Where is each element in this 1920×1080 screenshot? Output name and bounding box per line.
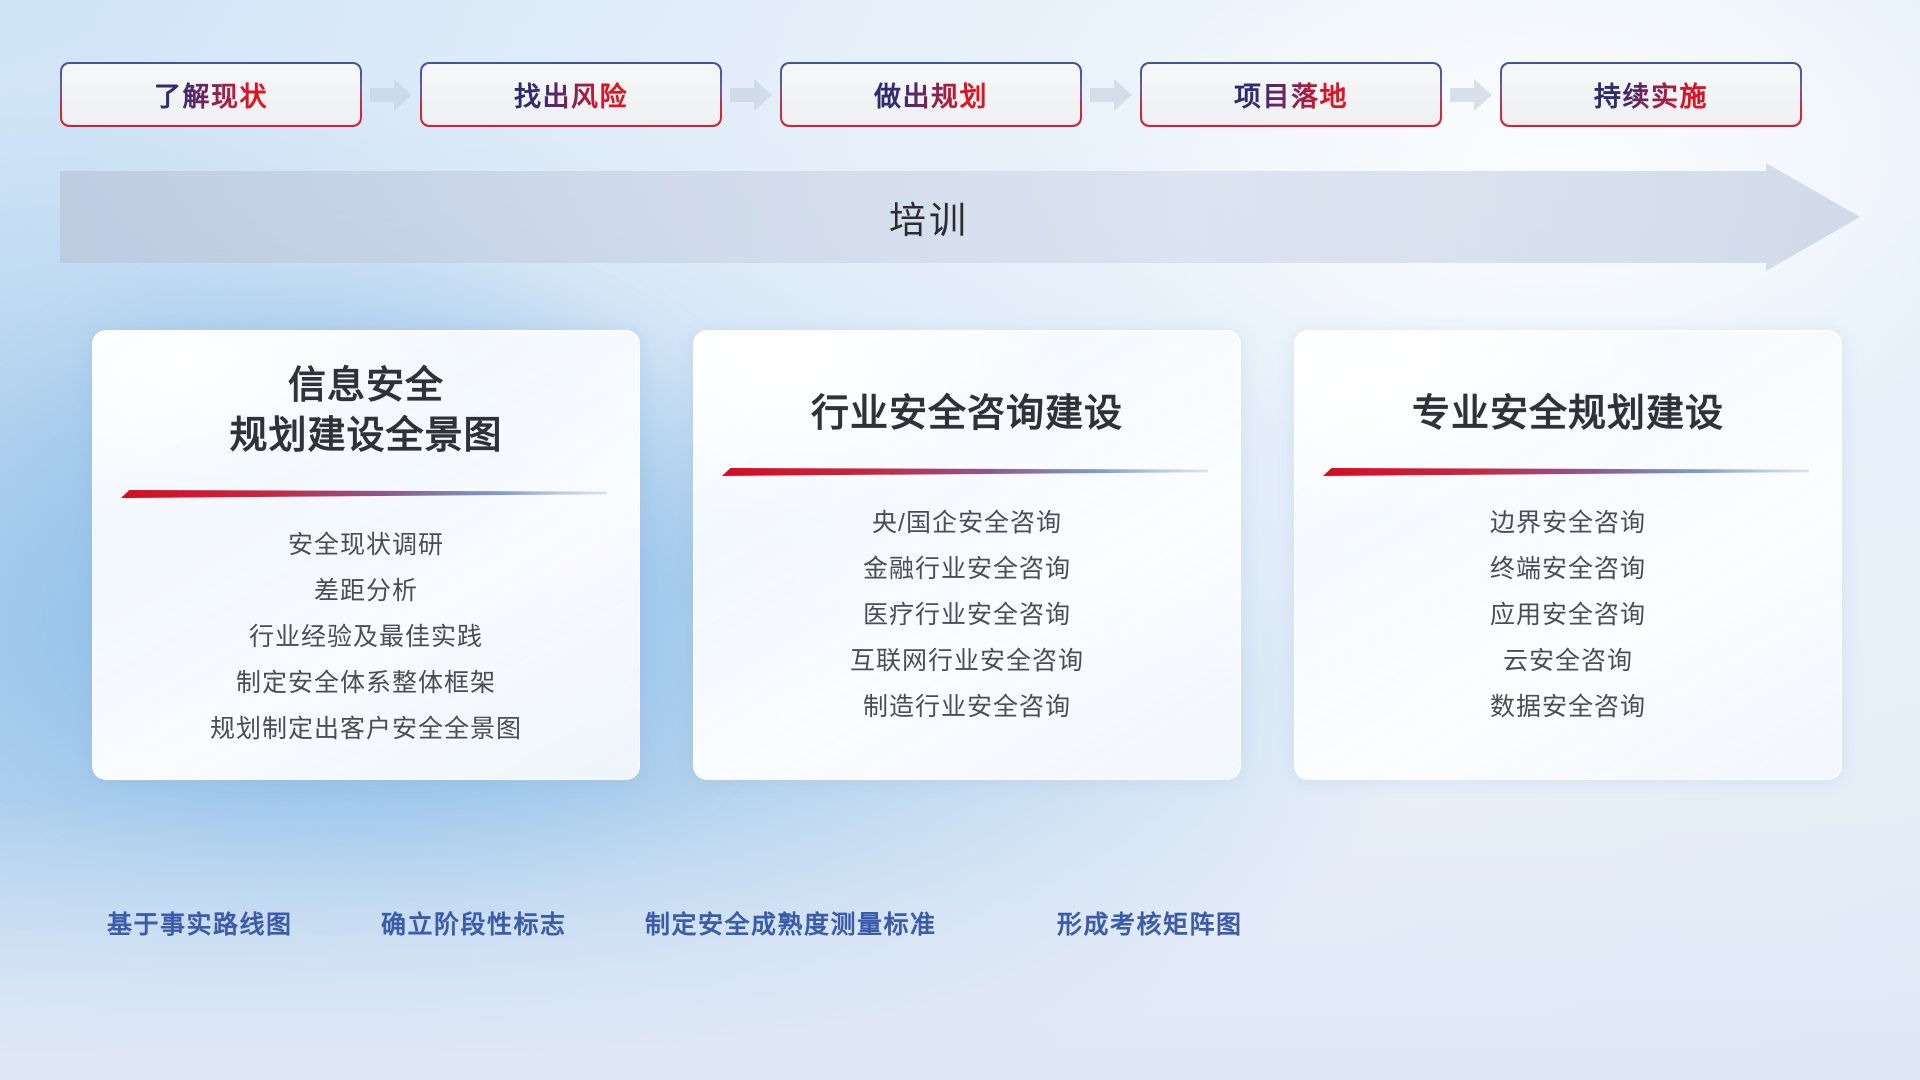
training-banner: 培训 bbox=[60, 163, 1860, 271]
footnote-row: 基于事实路线图 确立阶段性标志 制定安全成熟度测量标准 形成考核矩阵图 bbox=[0, 905, 1920, 965]
step-label: 持续实施 bbox=[1594, 75, 1708, 114]
footnote-label-1: 基于事实路线图 bbox=[107, 905, 293, 941]
card-title: 行业安全咨询建设 bbox=[694, 389, 1240, 439]
list-item: 云安全咨询 bbox=[1295, 638, 1841, 684]
arrow-right-icon bbox=[1448, 75, 1494, 115]
card-item-list: 安全现状调研 差距分析 行业经验及最佳实践 制定安全体系整体框架 规划制定出客户… bbox=[93, 522, 639, 752]
card-title: 信息安全 规划建设全景图 bbox=[93, 361, 639, 461]
list-item: 行业经验及最佳实践 bbox=[93, 614, 639, 660]
arrow-right-icon bbox=[368, 75, 414, 115]
arrow-right-icon bbox=[1088, 75, 1134, 115]
list-item: 终端安全咨询 bbox=[1295, 546, 1841, 592]
list-item: 制造行业安全咨询 bbox=[694, 684, 1240, 730]
card-divider bbox=[121, 487, 607, 500]
list-item: 互联网行业安全咨询 bbox=[694, 638, 1240, 684]
card-divider bbox=[1323, 465, 1809, 478]
banner-title: 培训 bbox=[60, 163, 1860, 271]
list-item: 规划制定出客户安全全景图 bbox=[93, 706, 639, 752]
list-item: 制定安全体系整体框架 bbox=[93, 660, 639, 706]
step-label: 项目落地 bbox=[1234, 75, 1348, 114]
step-box-4[interactable]: 项目落地 bbox=[1140, 62, 1442, 127]
card-3[interactable]: 专业安全规划建设 边界安全咨询 终端安全咨询 应用安全咨询 云安全 bbox=[1294, 330, 1842, 780]
step-box-2[interactable]: 找出风险 bbox=[420, 62, 722, 127]
list-item: 边界安全咨询 bbox=[1295, 500, 1841, 546]
list-item: 应用安全咨询 bbox=[1295, 592, 1841, 638]
footnote-label-2: 确立阶段性标志 bbox=[381, 905, 567, 941]
step-box-5[interactable]: 持续实施 bbox=[1500, 62, 1802, 127]
list-item: 安全现状调研 bbox=[93, 522, 639, 568]
list-item: 央/国企安全咨询 bbox=[694, 500, 1240, 546]
footnote-label-3: 制定安全成熟度测量标准 bbox=[645, 905, 937, 941]
step-box-1[interactable]: 了解现状 bbox=[60, 62, 362, 127]
step-label: 找出风险 bbox=[514, 75, 628, 114]
footnote-label-4: 形成考核矩阵图 bbox=[1057, 905, 1243, 941]
process-step-row: 了解现状 找出风险 做出规划 项目落地 持续实施 bbox=[60, 62, 1860, 127]
list-item: 医疗行业安全咨询 bbox=[694, 592, 1240, 638]
list-item: 数据安全咨询 bbox=[1295, 684, 1841, 730]
step-label: 做出规划 bbox=[874, 75, 988, 114]
list-item: 差距分析 bbox=[93, 568, 639, 614]
step-box-3[interactable]: 做出规划 bbox=[780, 62, 1082, 127]
card-1[interactable]: 信息安全 规划建设全景图 安全现状调研 差距分析 行业经验及最佳实践 bbox=[92, 330, 640, 780]
step-label: 了解现状 bbox=[154, 75, 268, 114]
arrow-right-icon bbox=[728, 75, 774, 115]
card-item-list: 央/国企安全咨询 金融行业安全咨询 医疗行业安全咨询 互联网行业安全咨询 制造行… bbox=[694, 500, 1240, 730]
cards-row: 信息安全 规划建设全景图 安全现状调研 差距分析 行业经验及最佳实践 bbox=[92, 330, 1842, 780]
card-title: 专业安全规划建设 bbox=[1295, 389, 1841, 439]
card-divider bbox=[722, 465, 1208, 478]
card-2[interactable]: 行业安全咨询建设 央/国企安全咨询 金融行业安全咨询 医疗行业安全咨询 bbox=[693, 330, 1241, 780]
card-item-list: 边界安全咨询 终端安全咨询 应用安全咨询 云安全咨询 数据安全咨询 bbox=[1295, 500, 1841, 730]
list-item: 金融行业安全咨询 bbox=[694, 546, 1240, 592]
